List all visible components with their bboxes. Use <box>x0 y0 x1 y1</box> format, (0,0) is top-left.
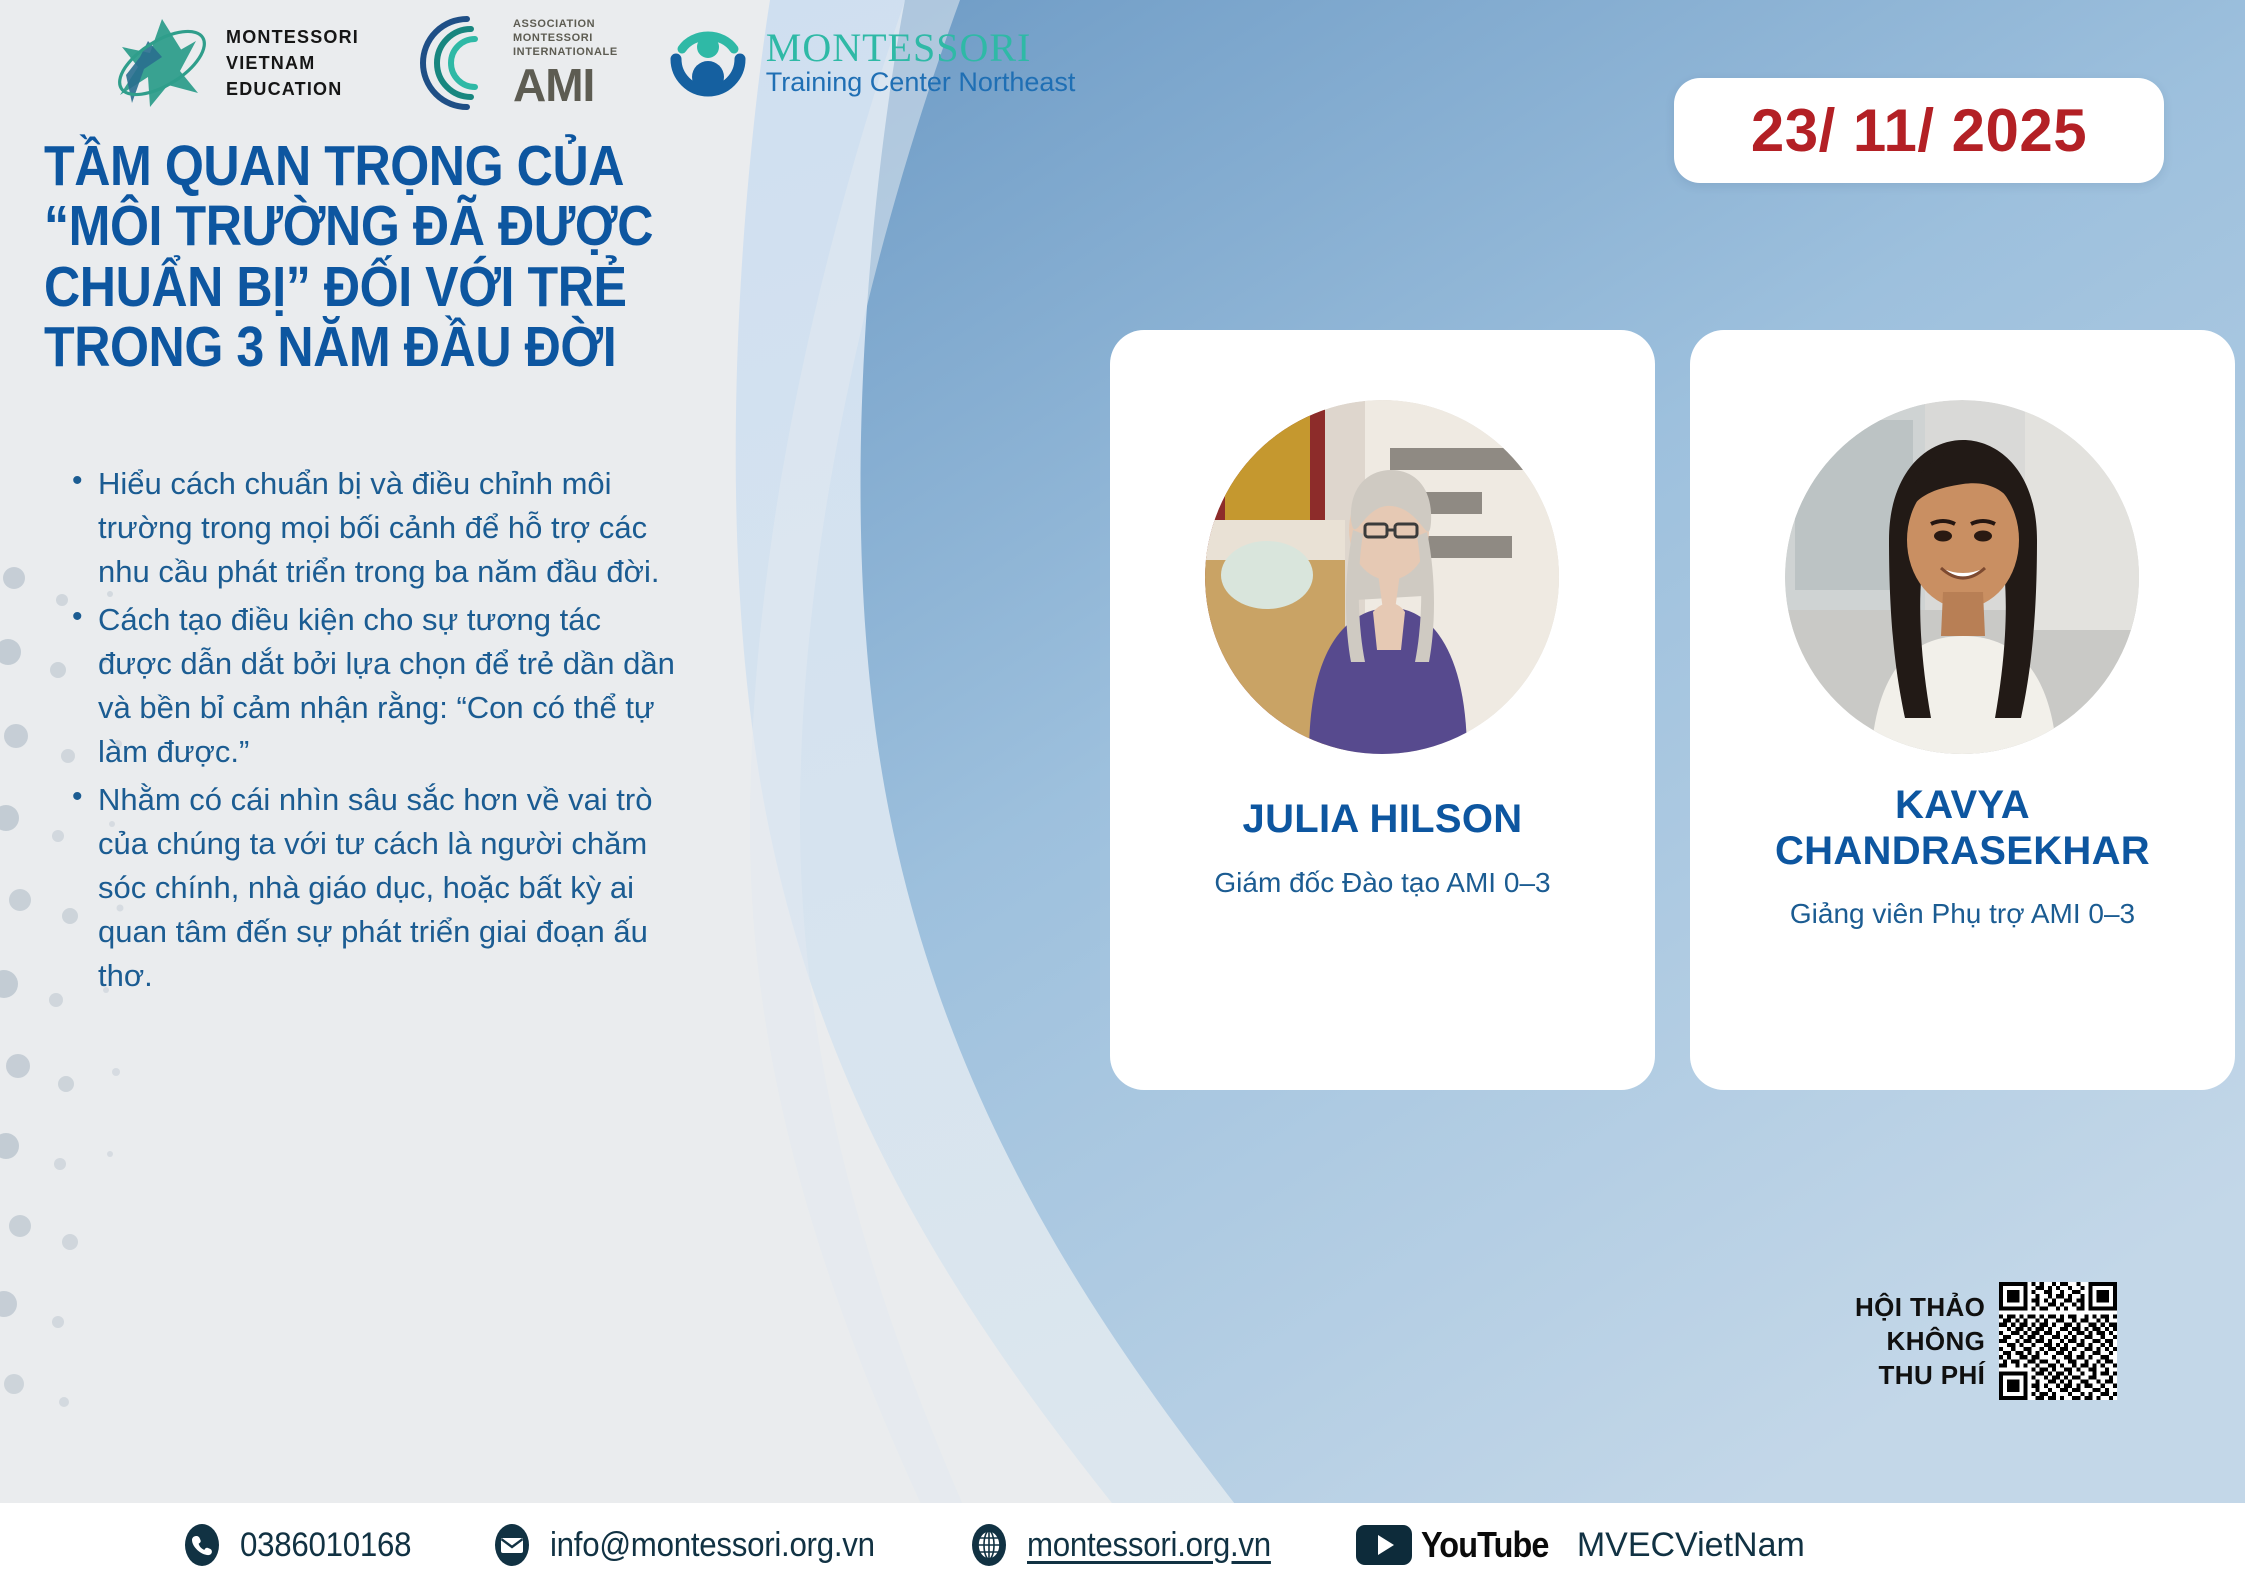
speaker-role: Giám đốc Đào tạo AMI 0–3 <box>1200 867 1564 899</box>
footer-phone-text: 0386010168 <box>240 1526 411 1565</box>
youtube-channel-text: MVECVietNam <box>1577 1526 1805 1565</box>
mtcn-line-1: MONTESSORI <box>766 28 1076 68</box>
kavya-chandrasekhar-photo <box>1785 400 2140 755</box>
speaker-name: KAVYA CHANDRASEKHAR <box>1690 783 2235 874</box>
mtcn-line-2: Training Center Northeast <box>766 68 1076 98</box>
ami-text-block: ASSOCIATION MONTESSORI INTERNATIONALE AM… <box>513 18 618 107</box>
mve-star-icon <box>110 11 214 115</box>
footer-email[interactable]: info@montessori.org.vn <box>490 1523 903 1567</box>
avatar <box>1205 400 1560 755</box>
youtube-logo: YouTube <box>1356 1524 1563 1566</box>
logo-ami: ASSOCIATION MONTESSORI INTERNATIONALE AM… <box>405 13 618 113</box>
qr-label-line-3: THU PHÍ <box>1855 1358 1985 1392</box>
ami-line-1: ASSOCIATION <box>513 18 618 32</box>
logo-montessori-vietnam-education: MONTESSORI VIETNAM EDUCATION <box>110 11 359 115</box>
footer-bar: 0386010168 info@montessori.org.vn <box>0 1503 2245 1587</box>
mve-wordmark: MONTESSORI VIETNAM EDUCATION <box>226 24 359 102</box>
footer-website[interactable]: montessori.org.vn <box>967 1523 1292 1567</box>
mve-line-3: EDUCATION <box>226 76 359 102</box>
avatar <box>1785 400 2140 755</box>
mtcn-figure-icon <box>664 19 752 107</box>
event-date-badge: 23/ 11/ 2025 <box>1674 78 2164 183</box>
ami-arcs-icon <box>405 13 505 113</box>
poster-root: MONTESSORI VIETNAM EDUCATION ASSOCIATION… <box>0 0 2245 1587</box>
globe-icon <box>967 1523 1011 1567</box>
list-item: Hiểu cách chuẩn bị và điều chỉnh môi trư… <box>66 462 676 594</box>
ami-line-3: INTERNATIONALE <box>513 46 618 60</box>
ami-association-lines: ASSOCIATION MONTESSORI INTERNATIONALE <box>513 18 618 59</box>
logo-row: MONTESSORI VIETNAM EDUCATION ASSOCIATION… <box>110 8 1075 118</box>
speaker-card-kavya-chandrasekhar[interactable]: KAVYA CHANDRASEKHAR Giảng viên Phụ trợ A… <box>1690 330 2235 1090</box>
speaker-name: JULIA HILSON <box>1225 797 1541 843</box>
list-item: Cách tạo điều kiện cho sự tương tác được… <box>66 598 676 774</box>
footer-youtube[interactable]: YouTube MVECVietNam <box>1356 1524 1805 1566</box>
phone-icon <box>180 1523 224 1567</box>
list-item: Nhằm có cái nhìn sâu sắc hơn về vai trò … <box>66 778 676 998</box>
footer-email-text: info@montessori.org.vn <box>550 1526 875 1565</box>
footer-website-text: montessori.org.vn <box>1027 1526 1271 1565</box>
ami-monogram: AMI <box>513 62 618 108</box>
mve-line-1: MONTESSORI <box>226 24 359 50</box>
event-date-text: 23/ 11/ 2025 <box>1751 96 2087 165</box>
youtube-play-icon <box>1356 1525 1412 1565</box>
julia-hilson-photo <box>1205 400 1560 755</box>
logo-mtc-northeast: MONTESSORI Training Center Northeast <box>664 19 1076 107</box>
page-title: TẦM QUAN TRỌNG CỦA “MÔI TRƯỜNG ĐÃ ĐƯỢC C… <box>44 136 660 378</box>
youtube-wordmark: YouTube <box>1421 1524 1548 1566</box>
email-icon <box>490 1523 534 1567</box>
speaker-role: Giảng viên Phụ trợ AMI 0–3 <box>1776 898 2149 930</box>
footer-phone[interactable]: 0386010168 <box>180 1523 426 1567</box>
qr-label-line-2: KHÔNG <box>1855 1324 1985 1358</box>
ami-line-2: MONTESSORI <box>513 32 618 46</box>
mve-line-2: VIETNAM <box>226 50 359 76</box>
speaker-card-julia-hilson[interactable]: JULIA HILSON Giám đốc Đào tạo AMI 0–3 <box>1110 330 1655 1090</box>
free-seminar-qr-block[interactable]: HỘI THẢO KHÔNG THU PHÍ <box>1855 1282 2117 1400</box>
qr-code-icon[interactable] <box>1999 1282 2117 1400</box>
qr-label-line-1: HỘI THẢO <box>1855 1290 1985 1324</box>
free-seminar-label: HỘI THẢO KHÔNG THU PHÍ <box>1855 1290 1985 1393</box>
objectives-list: Hiểu cách chuẩn bị và điều chỉnh môi trư… <box>66 462 676 1002</box>
mtcn-wordmark: MONTESSORI Training Center Northeast <box>766 28 1076 98</box>
